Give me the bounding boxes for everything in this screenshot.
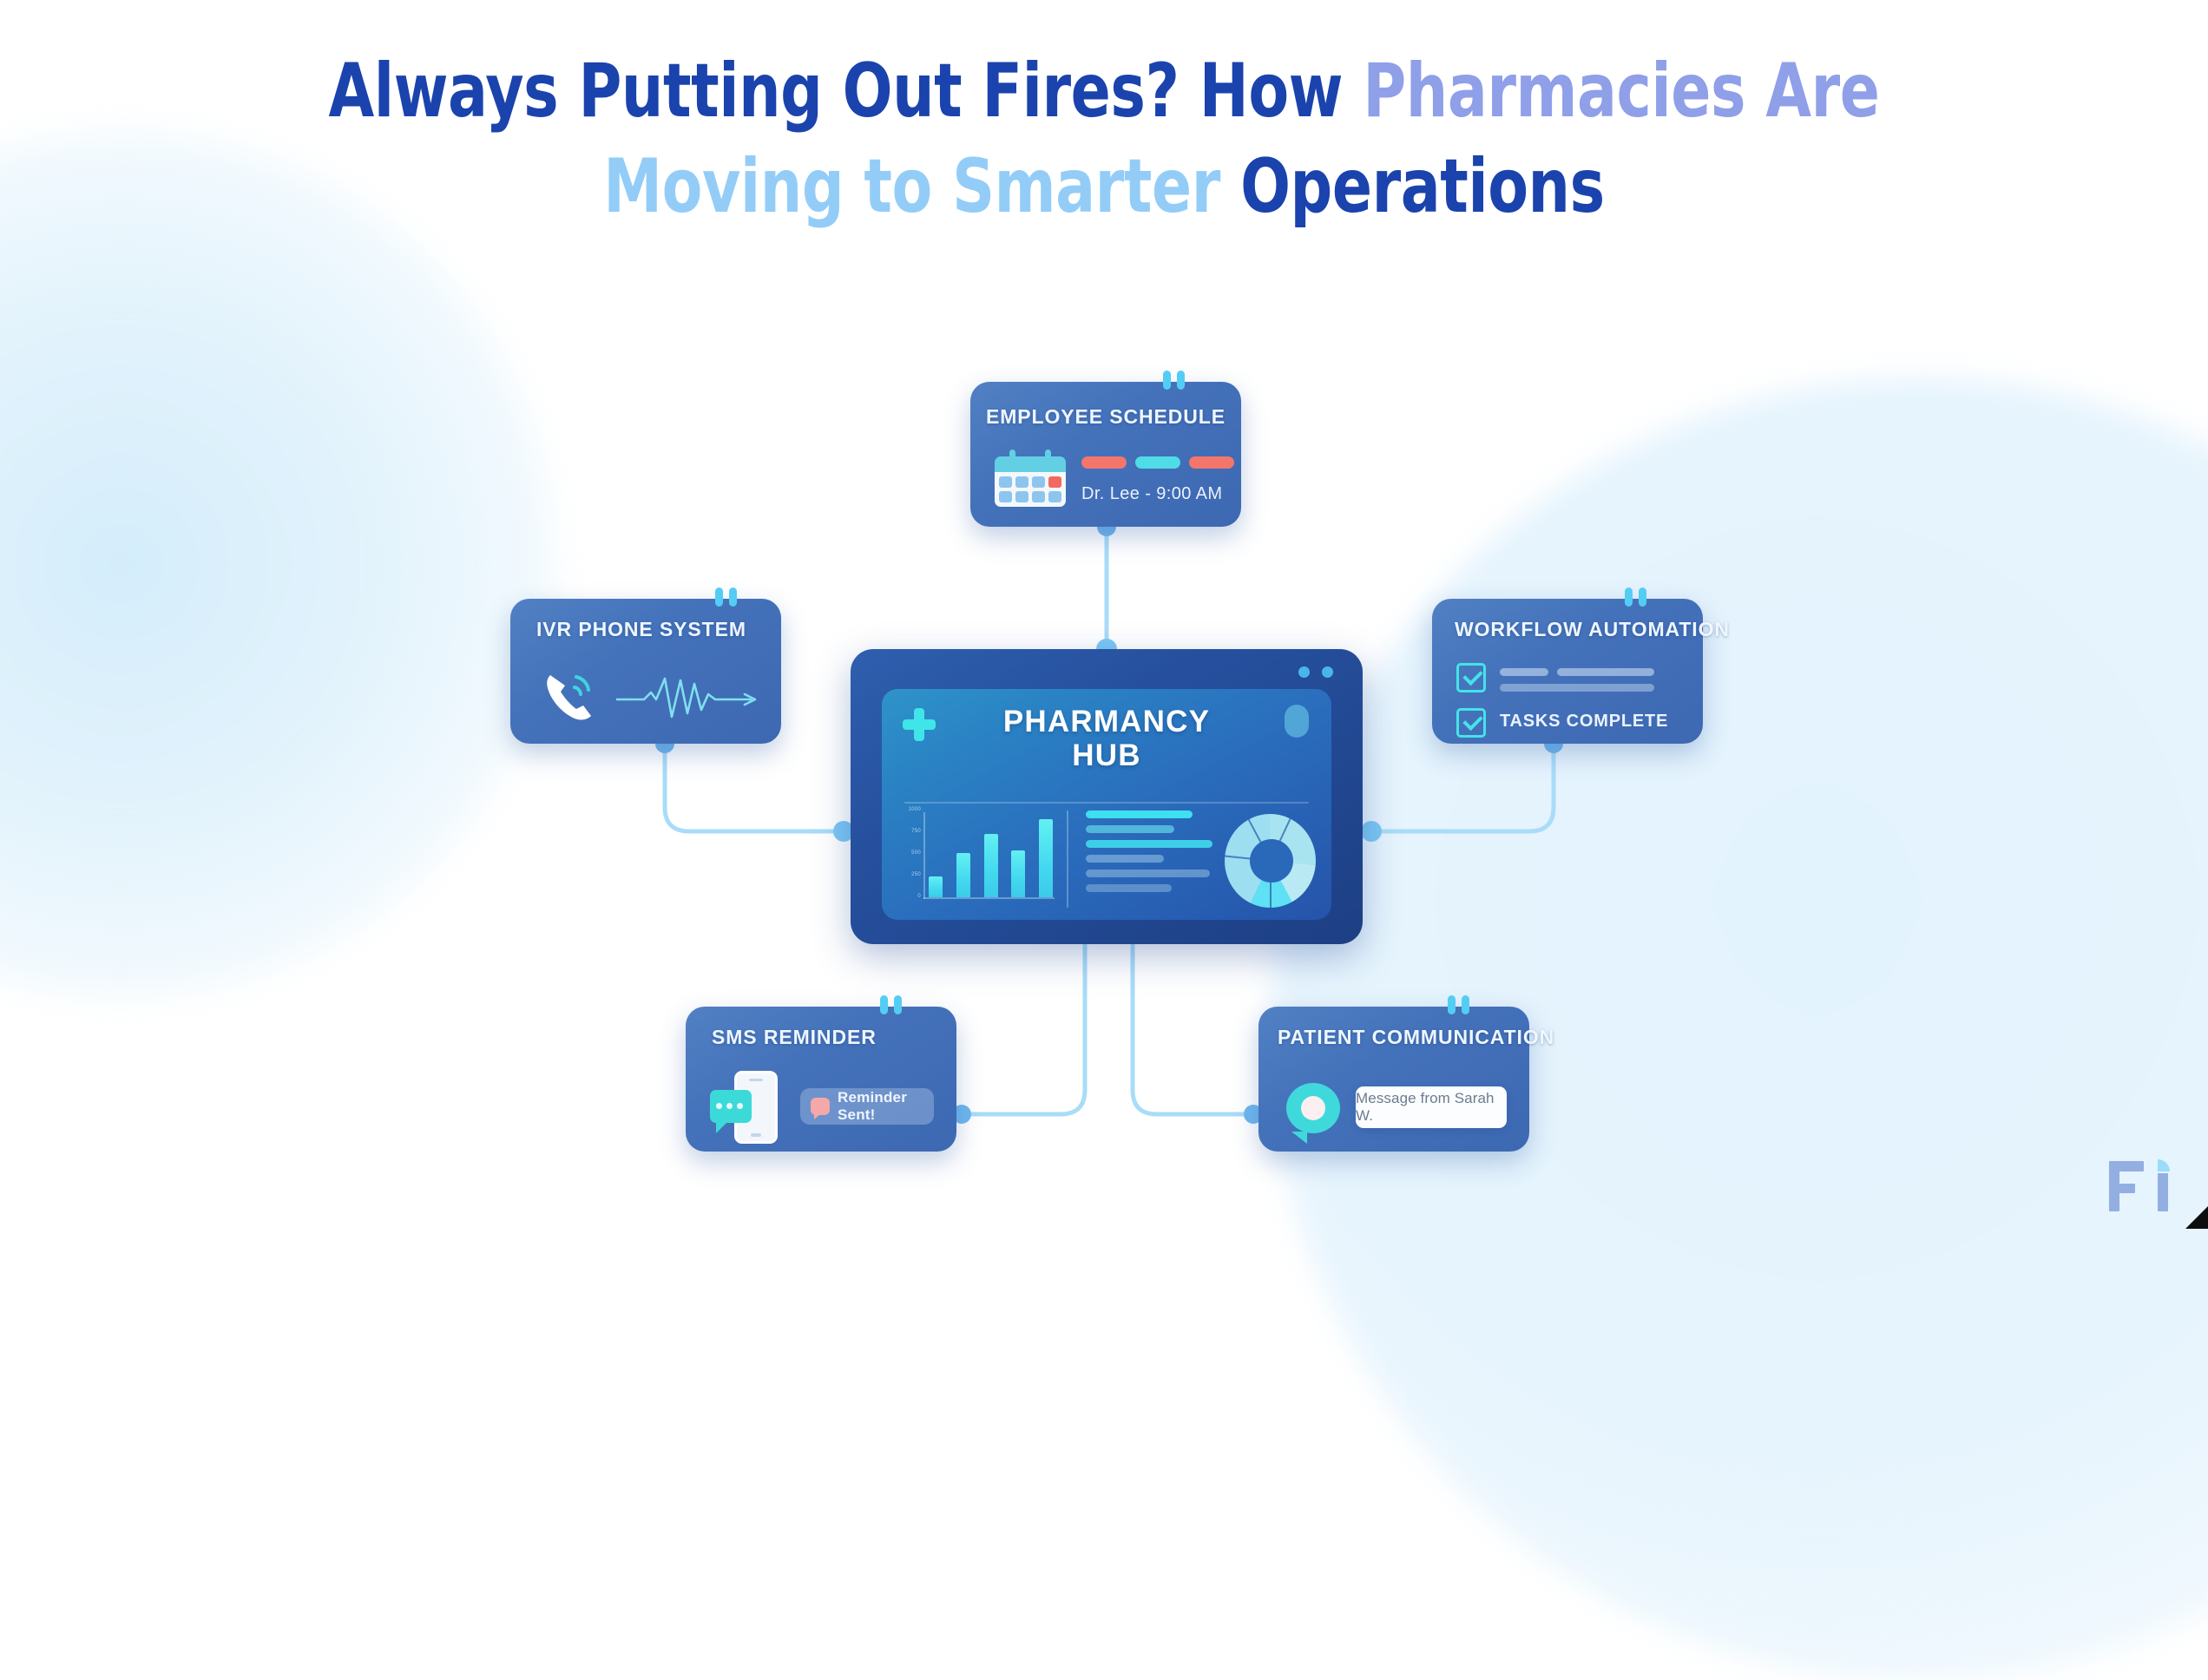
yaxis-line [923,812,925,899]
pharmacy-hub-device[interactable]: PHARMANCY HUB 02505007501000 [851,649,1363,944]
checkbox-checked-icon[interactable] [1456,708,1486,738]
bar-4 [1011,850,1025,897]
card-tabs [1448,995,1469,1014]
bar-chart-yaxis: 02505007501000 [901,812,923,899]
schedule-pill [1135,456,1180,469]
hub-text-line [1086,855,1164,863]
sms-status-text: Reminder Sent! [838,1089,934,1124]
card-title-workflow: WORKFLOW AUTOMATION [1455,618,1730,641]
hub-text-line [1086,825,1174,833]
calendar-cell [1015,491,1028,502]
audio-waveform-icon [614,672,762,724]
calendar-cell [1015,476,1028,488]
calendar-icon [995,450,1066,507]
schedule-pill [1081,456,1127,469]
hub-title-line1: PHARMANCY [882,705,1331,738]
card-tabs [880,995,902,1014]
card-tabs [715,587,737,607]
phone-call-icon [538,666,601,729]
hub-dashboard: 02505007501000 [901,816,1316,908]
card-title-sms: SMS REMINDER [712,1026,877,1049]
schedule-entry: Dr. Lee - 9:00 AM [1081,484,1222,504]
hub-screen: PHARMANCY HUB 02505007501000 [882,689,1331,920]
hub-text-line [1086,884,1172,892]
patient-message-text: Message from Sarah W. [1356,1090,1507,1125]
card-tabs [1625,587,1646,607]
chat-bubble-icon [710,1090,752,1123]
schedule-pills [1081,456,1234,469]
hub-title-line2: HUB [882,738,1331,772]
notification-bubble-icon [811,1098,830,1115]
connector-workflow [1371,744,1554,831]
bar-1 [929,876,943,898]
bar-2 [956,853,970,897]
bar-chart-bars [929,812,1053,897]
ytick-label: 500 [911,850,921,856]
xaxis-line [923,897,1055,899]
ytick-label: 0 [917,894,921,899]
connector-sms [962,944,1085,1114]
card-title-schedule: EMPLOYEE SCHEDULE [970,405,1241,429]
patient-message-box[interactable]: Message from Sarah W. [1356,1086,1507,1128]
checkbox-checked-icon[interactable] [1456,663,1486,692]
calendar-cell [1032,476,1045,488]
hub-title: PHARMANCY HUB [882,705,1331,772]
ytick-label: 1000 [908,807,921,812]
ytick-label: 250 [911,872,921,877]
connector-ivr [665,744,844,831]
hub-text-line [1086,810,1193,818]
card-patient-communication[interactable]: PATIENT COMMUNICATION Message from Sarah… [1258,1007,1529,1152]
bar-5 [1039,819,1053,897]
calendar-cells [995,472,1066,507]
donut-chart [1225,814,1316,908]
card-ivr-phone-system[interactable]: IVR PHONE SYSTEM [510,599,781,744]
hub-text-lines [1067,810,1212,908]
workflow-task-label: TASKS COMPLETE [1500,712,1668,732]
hub-status-dots [1298,666,1333,678]
hub-divider [904,802,1309,804]
connector-patient [1133,944,1253,1114]
ytick-label: 750 [911,829,921,834]
card-title-ivr: IVR PHONE SYSTEM [536,618,746,641]
calendar-cell [1048,476,1061,488]
hub-text-line [1086,870,1210,877]
bar-3 [984,834,998,898]
connector-lines [0,0,2208,1229]
hub-text-line [1086,840,1212,848]
card-workflow-automation[interactable]: WORKFLOW AUTOMATION TASKS COMPLETE [1432,599,1703,744]
workflow-placeholder-lines [1500,668,1670,699]
card-tabs [1163,371,1185,390]
calendar-cell [1032,491,1045,502]
card-title-patient: PATIENT COMMUNICATION [1278,1026,1554,1049]
card-employee-schedule[interactable]: EMPLOYEE SCHEDULE Dr. Lee - 9:00 AM [970,382,1241,527]
card-sms-reminder[interactable]: SMS REMINDER Reminder Sent! [686,1007,956,1152]
fi-logo [2106,1151,2177,1211]
calendar-cell [1048,491,1061,502]
calendar-cell [999,476,1012,488]
schedule-pill [1189,456,1234,469]
donut-hole [1250,839,1293,883]
calendar-cell [999,491,1012,502]
message-bubble-icon [1286,1083,1340,1133]
sms-status-pill: Reminder Sent! [800,1088,934,1125]
bar-chart: 02505007501000 [901,812,1055,908]
